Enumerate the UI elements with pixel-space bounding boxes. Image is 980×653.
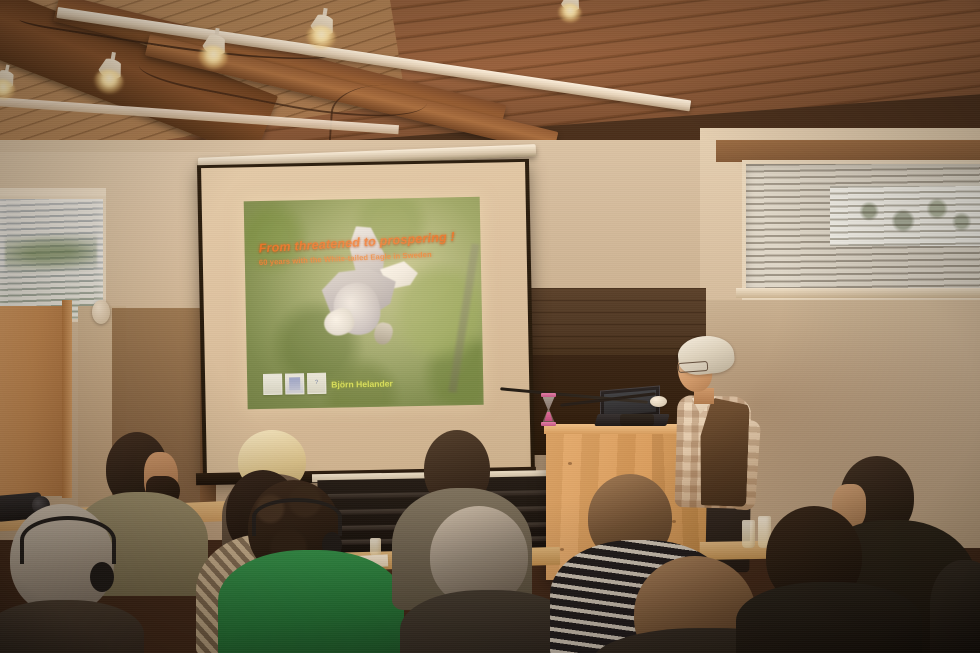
attendee-shoulders — [218, 550, 404, 653]
attendee-shoulders — [0, 600, 144, 653]
attendee-edge-right — [930, 560, 980, 653]
left-door-edge — [62, 300, 72, 498]
slide-logo-2 — [285, 373, 304, 394]
slide-logo-1 — [263, 374, 282, 395]
left-window-blinds — [0, 196, 106, 322]
left-window-frame — [0, 188, 106, 196]
attendee-silver-hair — [404, 506, 564, 653]
glasses-icon — [678, 361, 709, 373]
left-door[interactable] — [0, 306, 67, 496]
microphone-base — [620, 414, 654, 426]
lecture-hall-photo: From threatened to prospering ! 60 years… — [0, 0, 980, 653]
track-spotlight-5 — [557, 0, 584, 18]
attendee-shoulders — [930, 560, 980, 653]
attendee-headphones-left — [0, 504, 130, 653]
right-window-foliage — [842, 192, 978, 240]
slide-logo-3: ? — [307, 373, 326, 394]
attendee-dreadlocks-green — [218, 480, 388, 653]
right-window-header-beam — [716, 140, 980, 162]
left-window-greenery — [5, 233, 97, 275]
slide-author: Björn Helander — [331, 378, 393, 389]
attendee-far-right — [748, 506, 908, 653]
headphone-cup — [90, 562, 114, 592]
headphones-icon — [252, 498, 342, 536]
track-spotlight-2 — [198, 26, 233, 64]
right-window-blinds — [742, 160, 980, 300]
headphones-icon — [20, 516, 116, 564]
hourglass-timer-icon — [541, 393, 556, 426]
track-spotlight-1 — [93, 50, 128, 89]
attendee-shoulders — [736, 582, 922, 653]
track-spotlight-3 — [306, 6, 341, 44]
presentation-slide: From threatened to prospering ! 60 years… — [244, 197, 484, 409]
wall-speaker-icon — [92, 300, 110, 324]
right-window-sill — [736, 288, 980, 298]
